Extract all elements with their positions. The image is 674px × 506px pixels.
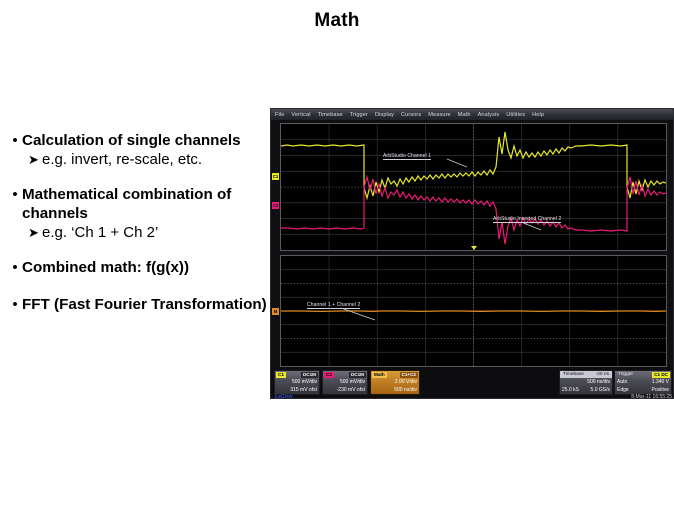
bullet-list: • Calculation of single channels ➤ e.g. … [8,131,270,329]
channel2-scale: 500 mV/div [323,378,367,386]
trigger-position-marker[interactable] [471,246,477,250]
bullet-text: Combined math: f(g(x)) [22,258,270,277]
lower-grid-svg [281,256,666,366]
scope-timestamp: 8-Mar-11 16:55:25 [631,394,672,399]
trigger-slope: Positive [651,386,669,394]
oscilloscope-screenshot: File Vertical Timebase Trigger Display C… [270,108,674,399]
channel1-waveform-label: ArbStudio Channel 1 [383,153,431,160]
channel2-descriptor-tag: C2 [324,372,334,378]
page-title: Math [0,10,674,32]
channel2-offset-marker[interactable]: C2 [272,202,279,209]
math-waveform-label: Channel 1 + Channel 2 [307,302,360,309]
math-offset-marker[interactable]: M [272,308,279,315]
math-timebase: 500 ns/div [371,386,419,394]
math-descriptor-tag: Math [372,372,387,378]
lower-graticule[interactable]: M [280,255,667,367]
menu-item-measure[interactable]: Measure [428,112,450,118]
menu-item-timebase[interactable]: Timebase [318,112,343,118]
timebase-memory: 25.0 kS [562,386,579,394]
channel2-marker-label: C2 [273,203,278,208]
menu-item-display[interactable]: Display [375,112,394,118]
channel2-descriptor[interactable]: C2 DC1M 500 mV/div -230 mV ofst [322,370,368,395]
trigger-level: 1.340 V [652,378,669,386]
menu-item-file[interactable]: File [275,112,284,118]
descriptor-bar: C1 DC1M 500 mV/div 315 mV ofst C2 DC1M 5… [271,367,674,399]
bullet-dot-icon: • [8,258,22,277]
channel2-coupling: DC1M [349,372,366,378]
menu-item-vertical[interactable]: Vertical [291,112,310,118]
menu-item-analysis[interactable]: Analysis [478,112,500,118]
math-descriptor[interactable]: Math C1+C2 2.00 V/div 500 ns/div [370,370,420,395]
sub-bullet-arrow-icon: ➤ [28,150,42,170]
channel1-scale: 500 mV/div [275,378,319,386]
channel2-offset: -230 mV ofst [323,386,367,394]
trigger-source: C1 DC [652,372,670,378]
timebase-scale: 500 ns/div [560,378,612,386]
math-function: C1+C2 [400,372,418,378]
channel1-descriptor-tag: C1 [276,372,286,378]
list-item: • FFT (Fast Fourier Transformation) [8,295,270,314]
channel1-descriptor[interactable]: C1 DC1M 500 mV/div 315 mV ofst [274,370,320,395]
menu-item-trigger[interactable]: Trigger [350,112,368,118]
list-item: • Combined math: f(g(x)) [8,258,270,277]
channel1-offset-marker[interactable]: C1 [272,173,279,180]
trigger-descriptor[interactable]: Trigger C1 DC Auto 1.340 V Edge Positive [614,370,672,395]
scope-menu-bar[interactable]: File Vertical Timebase Trigger Display C… [271,109,674,120]
timebase-sample-rate: 5.0 GS/s [591,386,610,394]
menu-item-help[interactable]: Help [532,112,544,118]
list-item: • Mathematical combination of channels ➤… [8,185,270,243]
bullet-text: Calculation of single channels [22,131,270,150]
upper-grid-svg [281,124,666,250]
trigger-type: Edge [617,386,629,394]
bullet-text: Mathematical combination of channels [22,185,270,223]
bullet-text: FFT (Fast Fourier Transformation) [22,295,270,314]
bullet-dot-icon: • [8,295,22,314]
bullet-dot-icon: • [8,131,22,150]
channel1-marker-label: C1 [273,174,278,179]
lecroy-logo[interactable]: LeCroy [275,394,293,399]
upper-graticule[interactable]: C1 C2 [280,123,667,251]
sub-bullet-text: e.g. ‘Ch 1 + Ch 2’ [42,223,270,243]
math-marker-label: M [274,309,278,314]
math-scale: 2.00 V/div [371,378,419,386]
trigger-mode: Auto [617,378,627,386]
trigger-descriptor-tag: Trigger [616,372,633,377]
menu-item-utilities[interactable]: Utilities [506,112,525,118]
bullet-dot-icon: • [8,185,22,204]
channel2-waveform-label: ArbStudio Inverted Channel 2 [493,216,561,223]
sub-bullet-arrow-icon: ➤ [28,223,42,243]
menu-item-math[interactable]: Math [458,112,471,118]
list-item: • Calculation of single channels ➤ e.g. … [8,131,270,170]
timebase-delay: -20 ns [596,372,611,377]
waveform-display-area: C1 C2 [271,120,674,370]
channel1-coupling: DC1M [301,372,318,378]
timebase-descriptor-tag: Timebase [561,372,584,377]
timebase-descriptor[interactable]: Timebase -20 ns 500 ns/div 25.0 kS 5.0 G… [559,370,613,395]
menu-item-cursors[interactable]: Cursors [401,112,421,118]
sub-bullet-text: e.g. invert, re-scale, etc. [42,150,270,170]
channel1-offset: 315 mV ofst [275,386,319,394]
